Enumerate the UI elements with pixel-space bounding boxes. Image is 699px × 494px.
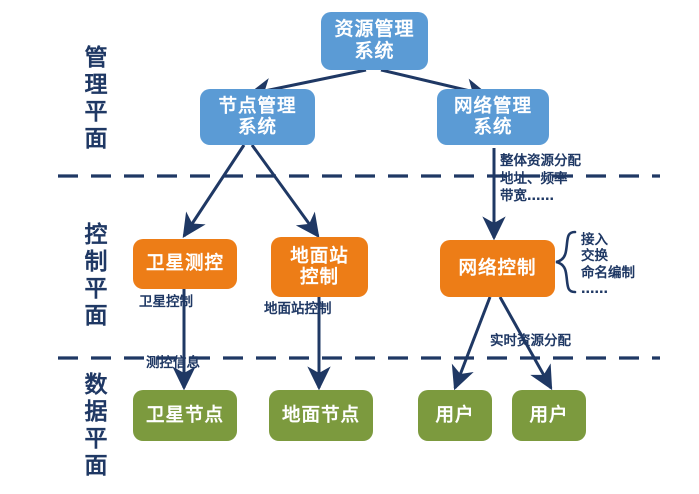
node-ground-node[interactable]: 地面节点 [269, 390, 373, 441]
annotation-realtime-resource-allocation: 实时资源分配 [490, 333, 571, 351]
annotation-satellite-control: 卫星控制 [139, 294, 193, 312]
annotation-ground-station-control: 地面站控制 [264, 301, 332, 319]
node-user-2[interactable]: 用户 [512, 390, 586, 441]
annotation-overall-resource-allocation: 整体资源分配 地址、频率 带宽…… [500, 153, 581, 206]
arrow-network-control-to-user1 [455, 297, 490, 388]
node-network-control[interactable]: 网络控制 [440, 240, 555, 297]
node-resource-management-system[interactable]: 资源管理 系统 [321, 12, 428, 70]
annotation-access-switch-naming: 接入 交换 命名编制 …… [581, 232, 635, 298]
curly-brace [556, 232, 575, 292]
plane-label-management: 管 理 平 面 [76, 45, 116, 154]
node-ground-station-control[interactable]: 地面站 控制 [271, 237, 368, 297]
plane-label-control: 控 制 平 面 [76, 222, 116, 331]
arrow-node-to-ground-station [252, 145, 318, 236]
arrow-node-to-satellite-ttc [184, 145, 244, 236]
plane-label-data: 数 据 平 面 [76, 372, 116, 481]
diagram-canvas: 管 理 平 面 控 制 平 面 数 据 平 面 资源管理 系统 节点管理 系统 … [0, 0, 699, 494]
annotation-tt-and-c-information: 测控信息 [146, 355, 200, 373]
node-node-management-system[interactable]: 节点管理 系统 [200, 89, 315, 145]
node-network-management-system[interactable]: 网络管理 系统 [437, 89, 549, 145]
node-satellite-node[interactable]: 卫星节点 [133, 390, 237, 441]
node-satellite-tt-and-c[interactable]: 卫星测控 [133, 239, 237, 289]
node-user-1[interactable]: 用户 [418, 390, 492, 441]
